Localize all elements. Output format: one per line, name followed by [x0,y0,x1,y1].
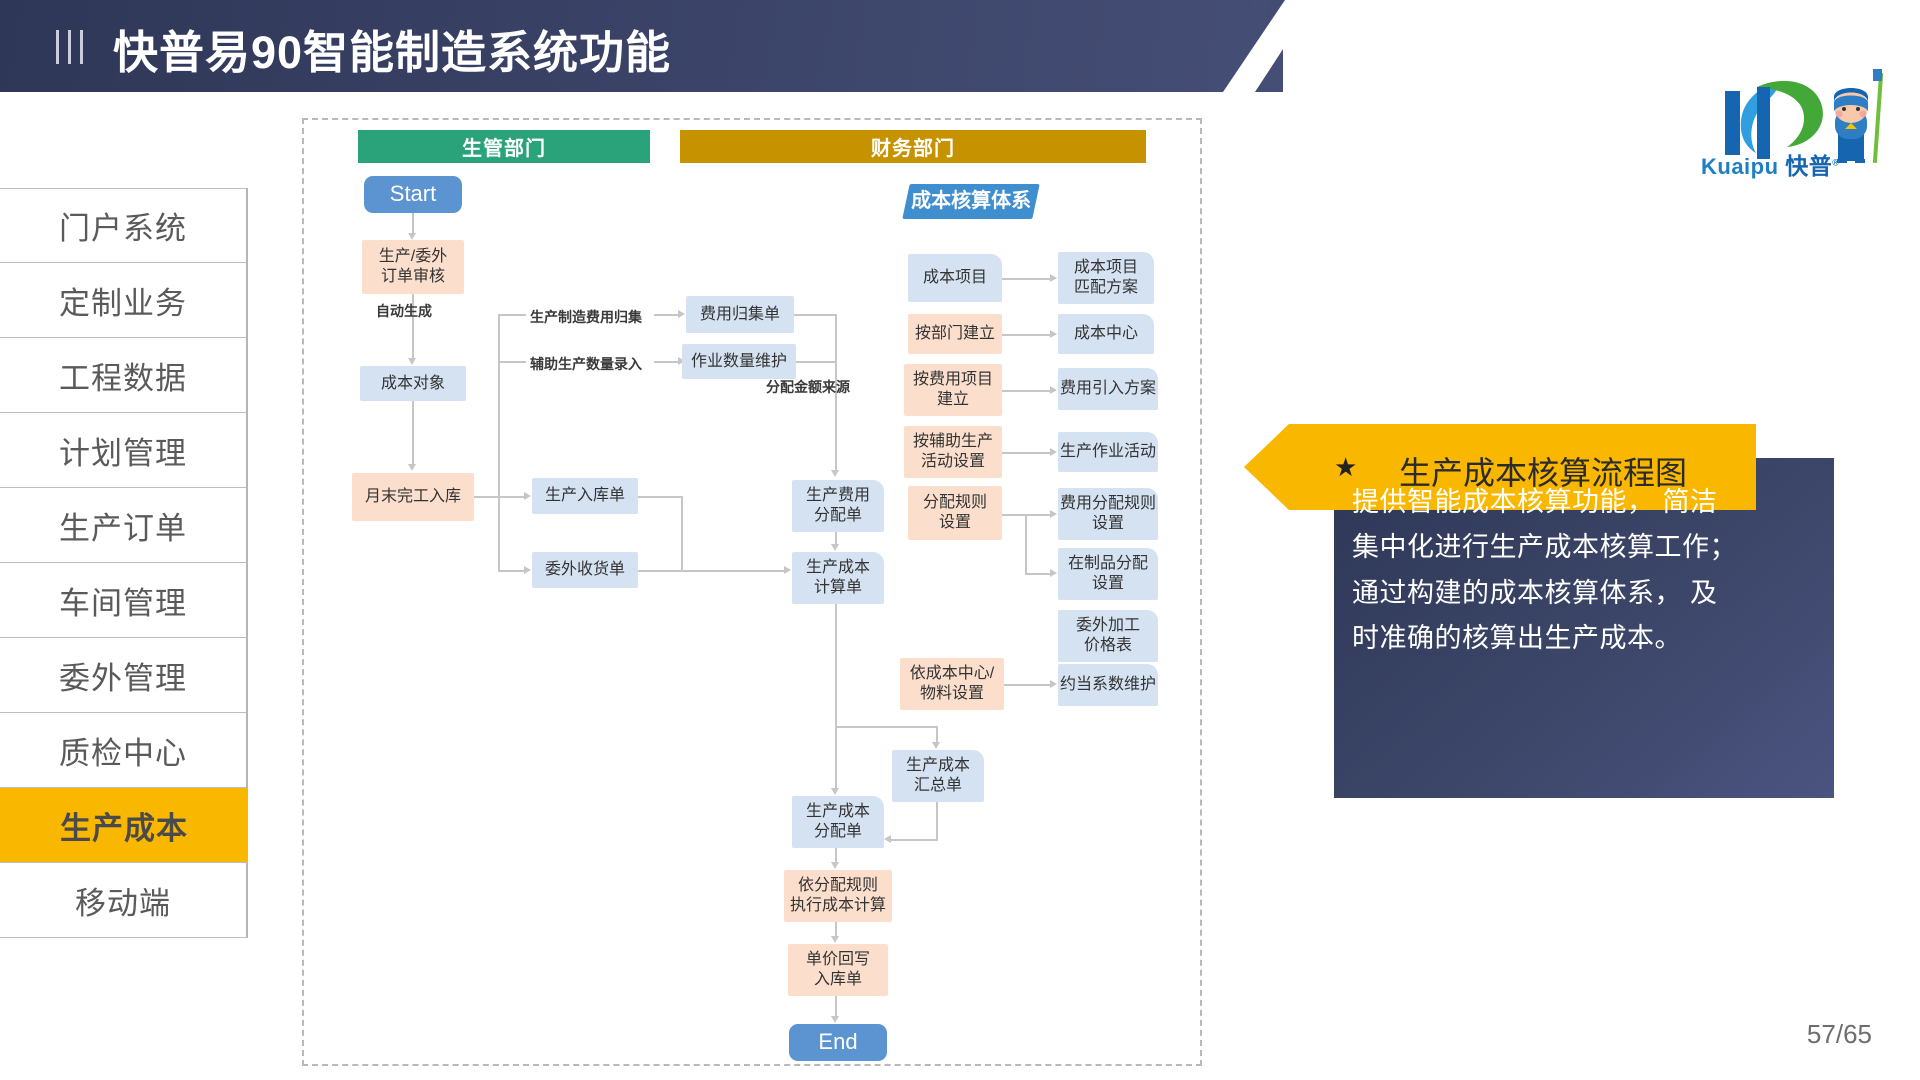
node-label: 月末完工入库 [365,487,461,507]
arrow-down-icon [831,862,839,869]
edge-spine-vertical [498,314,500,497]
edge-to-prod-receipt [498,496,526,498]
node-month-end-receipt[interactable]: 月末完工入库 [352,473,474,521]
node-label: 按费用项目建立 [913,370,993,409]
edge-by-fee-to-import-plan [1002,390,1054,392]
node-label: 依分配规则执行成本计算 [790,876,886,915]
sidebar-item-workshop-management[interactable]: 车间管理 [0,563,248,638]
sidebar-item-label: 计划管理 [59,428,187,473]
node-label: 委外收货单 [545,560,625,580]
logo-latin: Kuaipu [1701,154,1779,179]
node-task-qty-maintain[interactable]: 作业数量维护 [682,344,796,379]
node-order-review[interactable]: 生产/委外订单审核 [362,240,464,294]
node-by-department[interactable]: 按部门建立 [908,314,1002,354]
node-label: 生产入库单 [545,486,625,506]
sidebar-item-custom-business[interactable]: 定制业务 [0,263,248,338]
sidebar-item-production-order[interactable]: 生产订单 [0,488,248,563]
edge-to-task-qty [654,361,680,363]
node-prod-cost-calc[interactable]: 生产成本计算单 [792,552,884,604]
arrow-down-icon [831,1016,839,1023]
node-label: 成本项目匹配方案 [1074,258,1138,297]
node-label: 生产成本计算单 [806,558,870,597]
node-prod-cost-alloc[interactable]: 生产成本分配单 [792,796,884,848]
sidebar-item-label: 生产订单 [59,503,187,548]
lane-label: 财务部门 [871,132,955,161]
node-prod-fee-alloc[interactable]: 生产费用分配单 [792,480,884,532]
callout-text: 提供智能成本核算功能， 简洁 集中化进行生产成本核算工作； 通过构建的成本核算体… [1352,480,1822,661]
node-label: 成本中心 [1074,324,1138,344]
sidebar-item-plan-management[interactable]: 计划管理 [0,413,248,488]
sidebar-item-mobile[interactable]: 移动端 [0,863,248,938]
edge-summary-down [936,802,938,840]
node-start[interactable]: Start [364,176,462,213]
logo-cn: 快普 [1785,153,1832,179]
node-fee-import-plan[interactable]: 费用引入方案 [1058,368,1158,410]
edge-alloc-rule-right [1002,514,1026,516]
slide-page: 快普易90智能制造系统功能 [0,0,1920,1080]
node-outsource-receipt[interactable]: 委外收货单 [532,552,638,588]
edge-to-wip-alloc [1025,573,1053,575]
edge-task-qty-right [796,361,836,363]
edge-cost-item-to-match [1002,278,1054,280]
node-prod-cost-summary[interactable]: 生产成本汇总单 [892,750,984,802]
sidebar-item-quality-center[interactable]: 质检中心 [0,713,248,788]
node-cost-center[interactable]: 成本中心 [1058,314,1154,354]
mascot-icon [1834,69,1883,163]
arrow-down-icon [932,742,940,749]
node-label: 费用分配规则设置 [1060,494,1156,533]
sidebar-item-label: 生产成本 [60,803,188,848]
hamburger-icon[interactable] [56,30,83,64]
edge-branch-aux-qty [498,361,526,363]
arrow-down-icon [408,464,416,471]
edge-cost-object-to-month-end [412,401,414,466]
edge-to-fee-doc [654,314,680,316]
sidebar-item-label: 定制业务 [59,278,187,323]
arrow-right-icon [1050,330,1057,338]
node-label: 依成本中心/物料设置 [910,664,994,703]
node-label: 费用引入方案 [1060,379,1156,399]
node-label: 委外加工价格表 [1076,616,1140,655]
node-label: 生产作业活动 [1060,442,1156,462]
edge-monthend-to-spine [474,496,498,498]
edge-alloc-rule-split [1025,514,1027,574]
callout-line: 集中化进行生产成本核算工作； [1352,525,1822,570]
edge-spine-down [498,496,500,570]
flowchart: 生管部门 财务部门 Start 生产/委外订单审核 自动生成 成本对象 月末完工… [302,118,1202,1066]
lane-header-finance: 财务部门 [680,130,1146,163]
edge-writeback-to-end [835,996,837,1018]
arrow-down-icon [408,233,416,240]
node-wip-alloc-setting[interactable]: 在制品分配设置 [1058,548,1158,600]
node-cost-accounting-system-tag[interactable]: 成本核算体系 [902,184,1039,219]
node-end[interactable]: End [789,1024,887,1061]
arrow-down-icon [831,788,839,795]
node-label: End [818,1029,857,1056]
arrow-down-icon [408,358,416,365]
node-label: 分配规则设置 [923,493,987,532]
sidebar-item-engineering-data[interactable]: 工程数据 [0,338,248,413]
arrow-right-icon [678,310,685,318]
node-by-aux-production[interactable]: 按辅助生产活动设置 [904,426,1002,478]
sidebar-item-outsource-management[interactable]: 委外管理 [0,638,248,713]
sidebar-menu: 门户系统 定制业务 工程数据 计划管理 生产订单 车间管理 委外管理 质检中心 … [0,188,248,938]
edge-fee-doc-right [794,314,836,316]
edge-outsource-to-cost-calc [638,570,788,572]
edge-prod-receipt-right [638,496,682,498]
edge-cost-calc-down [835,604,837,790]
node-by-fee-item[interactable]: 按费用项目建立 [904,364,1002,416]
edge-to-equiv-coef [1004,684,1054,686]
edge-label-auto-generate: 自动生成 [376,301,432,321]
brand-logo: Kuaipu 快普® [1695,63,1905,183]
arrow-right-icon [1050,386,1057,394]
node-cost-item[interactable]: 成本项目 [908,254,1002,302]
lane-header-production: 生管部门 [358,130,650,163]
node-label: 生产/委外订单审核 [379,247,447,286]
arrow-down-icon [831,544,839,551]
node-label: Start [390,181,436,208]
callout-line: 时准确的核算出生产成本。 [1352,616,1822,661]
node-label: 生产成本汇总单 [906,756,970,795]
node-label: 作业数量维护 [691,352,787,372]
edge-summary-to-alloc [890,839,938,841]
node-label: 单价回写入库单 [806,950,870,989]
arrow-right-icon [524,492,531,500]
node-fee-alloc-rule-setting[interactable]: 费用分配规则设置 [1058,488,1158,540]
edge-label-mfg-fee-collect: 生产制造费用归集 [530,307,642,327]
node-label: 按部门建立 [915,324,995,344]
node-cost-item-match-plan[interactable]: 成本项目匹配方案 [1058,252,1154,304]
edge-label-aux-prod-qty: 辅助生产数量录入 [530,354,642,374]
node-prod-receipt[interactable]: 生产入库单 [532,478,638,514]
node-label: 成本核算体系 [911,189,1031,213]
sidebar-item-label: 门户系统 [59,203,187,248]
node-exec-cost-calc[interactable]: 依分配规则执行成本计算 [784,870,892,922]
node-label: 成本对象 [381,374,445,394]
node-by-cost-center-material[interactable]: 依成本中心/物料设置 [900,658,1004,710]
node-fee-collect-doc[interactable]: 费用归集单 [686,296,794,333]
edge-by-aux-to-activity [1002,452,1054,454]
node-label: 成本项目 [923,268,987,288]
edge-prod-receipt-down [681,496,683,570]
node-label: 在制品分配设置 [1068,554,1148,593]
edge-to-outsource-receipt [498,570,526,572]
node-outsource-price-list[interactable]: 委外加工价格表 [1058,610,1158,662]
sidebar-item-label: 工程数据 [59,353,187,398]
arrow-right-icon [784,566,791,574]
page-title: 快普易90智能制造系统功能 [113,16,671,81]
edge-start-to-review [412,213,414,235]
sidebar-item-label: 车间管理 [59,578,187,623]
arrow-right-icon [1050,274,1057,282]
node-equiv-coefficient-maintain[interactable]: 约当系数维护 [1058,664,1158,706]
logo-tm: ® [1832,158,1839,168]
node-label: 生产费用分配单 [806,486,870,525]
star-icon: ★ [1334,452,1357,483]
sidebar-item-label: 质检中心 [59,728,187,773]
callout-line: 提供智能成本核算功能， 简洁 [1352,480,1822,525]
node-label: 约当系数维护 [1060,675,1156,695]
arrow-right-icon [1050,569,1057,577]
arrow-left-icon [884,835,891,843]
node-label: 生产成本分配单 [806,802,870,841]
arrow-right-icon [1050,510,1057,518]
sidebar-item-production-cost[interactable]: 生产成本 [0,788,248,863]
logo-wordmark: Kuaipu 快普® [1701,147,1839,181]
node-label: 按辅助生产活动设置 [913,432,993,471]
node-prod-task-activity[interactable]: 生产作业活动 [1058,432,1158,472]
sidebar-item-portal[interactable]: 门户系统 [0,188,248,263]
node-alloc-rule-setting[interactable]: 分配规则设置 [908,486,1002,540]
arrow-right-icon [1050,680,1057,688]
edge-by-dept-to-cost-center [1002,334,1054,336]
arrow-right-icon [1050,448,1057,456]
page-number: 57/65 [1807,1019,1872,1050]
edge-branch-mfg-fee [498,314,526,316]
edge-to-cost-summary [835,726,937,728]
node-cost-object[interactable]: 成本对象 [360,366,466,401]
arrow-down-icon [831,470,839,477]
sidebar-item-label: 移动端 [75,878,171,923]
arrow-right-icon [524,566,531,574]
lane-label: 生管部门 [462,132,546,161]
callout-line: 通过构建的成本核算体系， 及 [1352,571,1822,616]
node-price-writeback[interactable]: 单价回写入库单 [788,944,888,996]
node-label: 费用归集单 [700,305,780,325]
edge-to-fee-alloc-rule [1025,514,1053,516]
arrow-down-icon [831,936,839,943]
sidebar-item-label: 委外管理 [59,653,187,698]
edge-label-alloc-amount-source: 分配金额来源 [766,377,850,397]
